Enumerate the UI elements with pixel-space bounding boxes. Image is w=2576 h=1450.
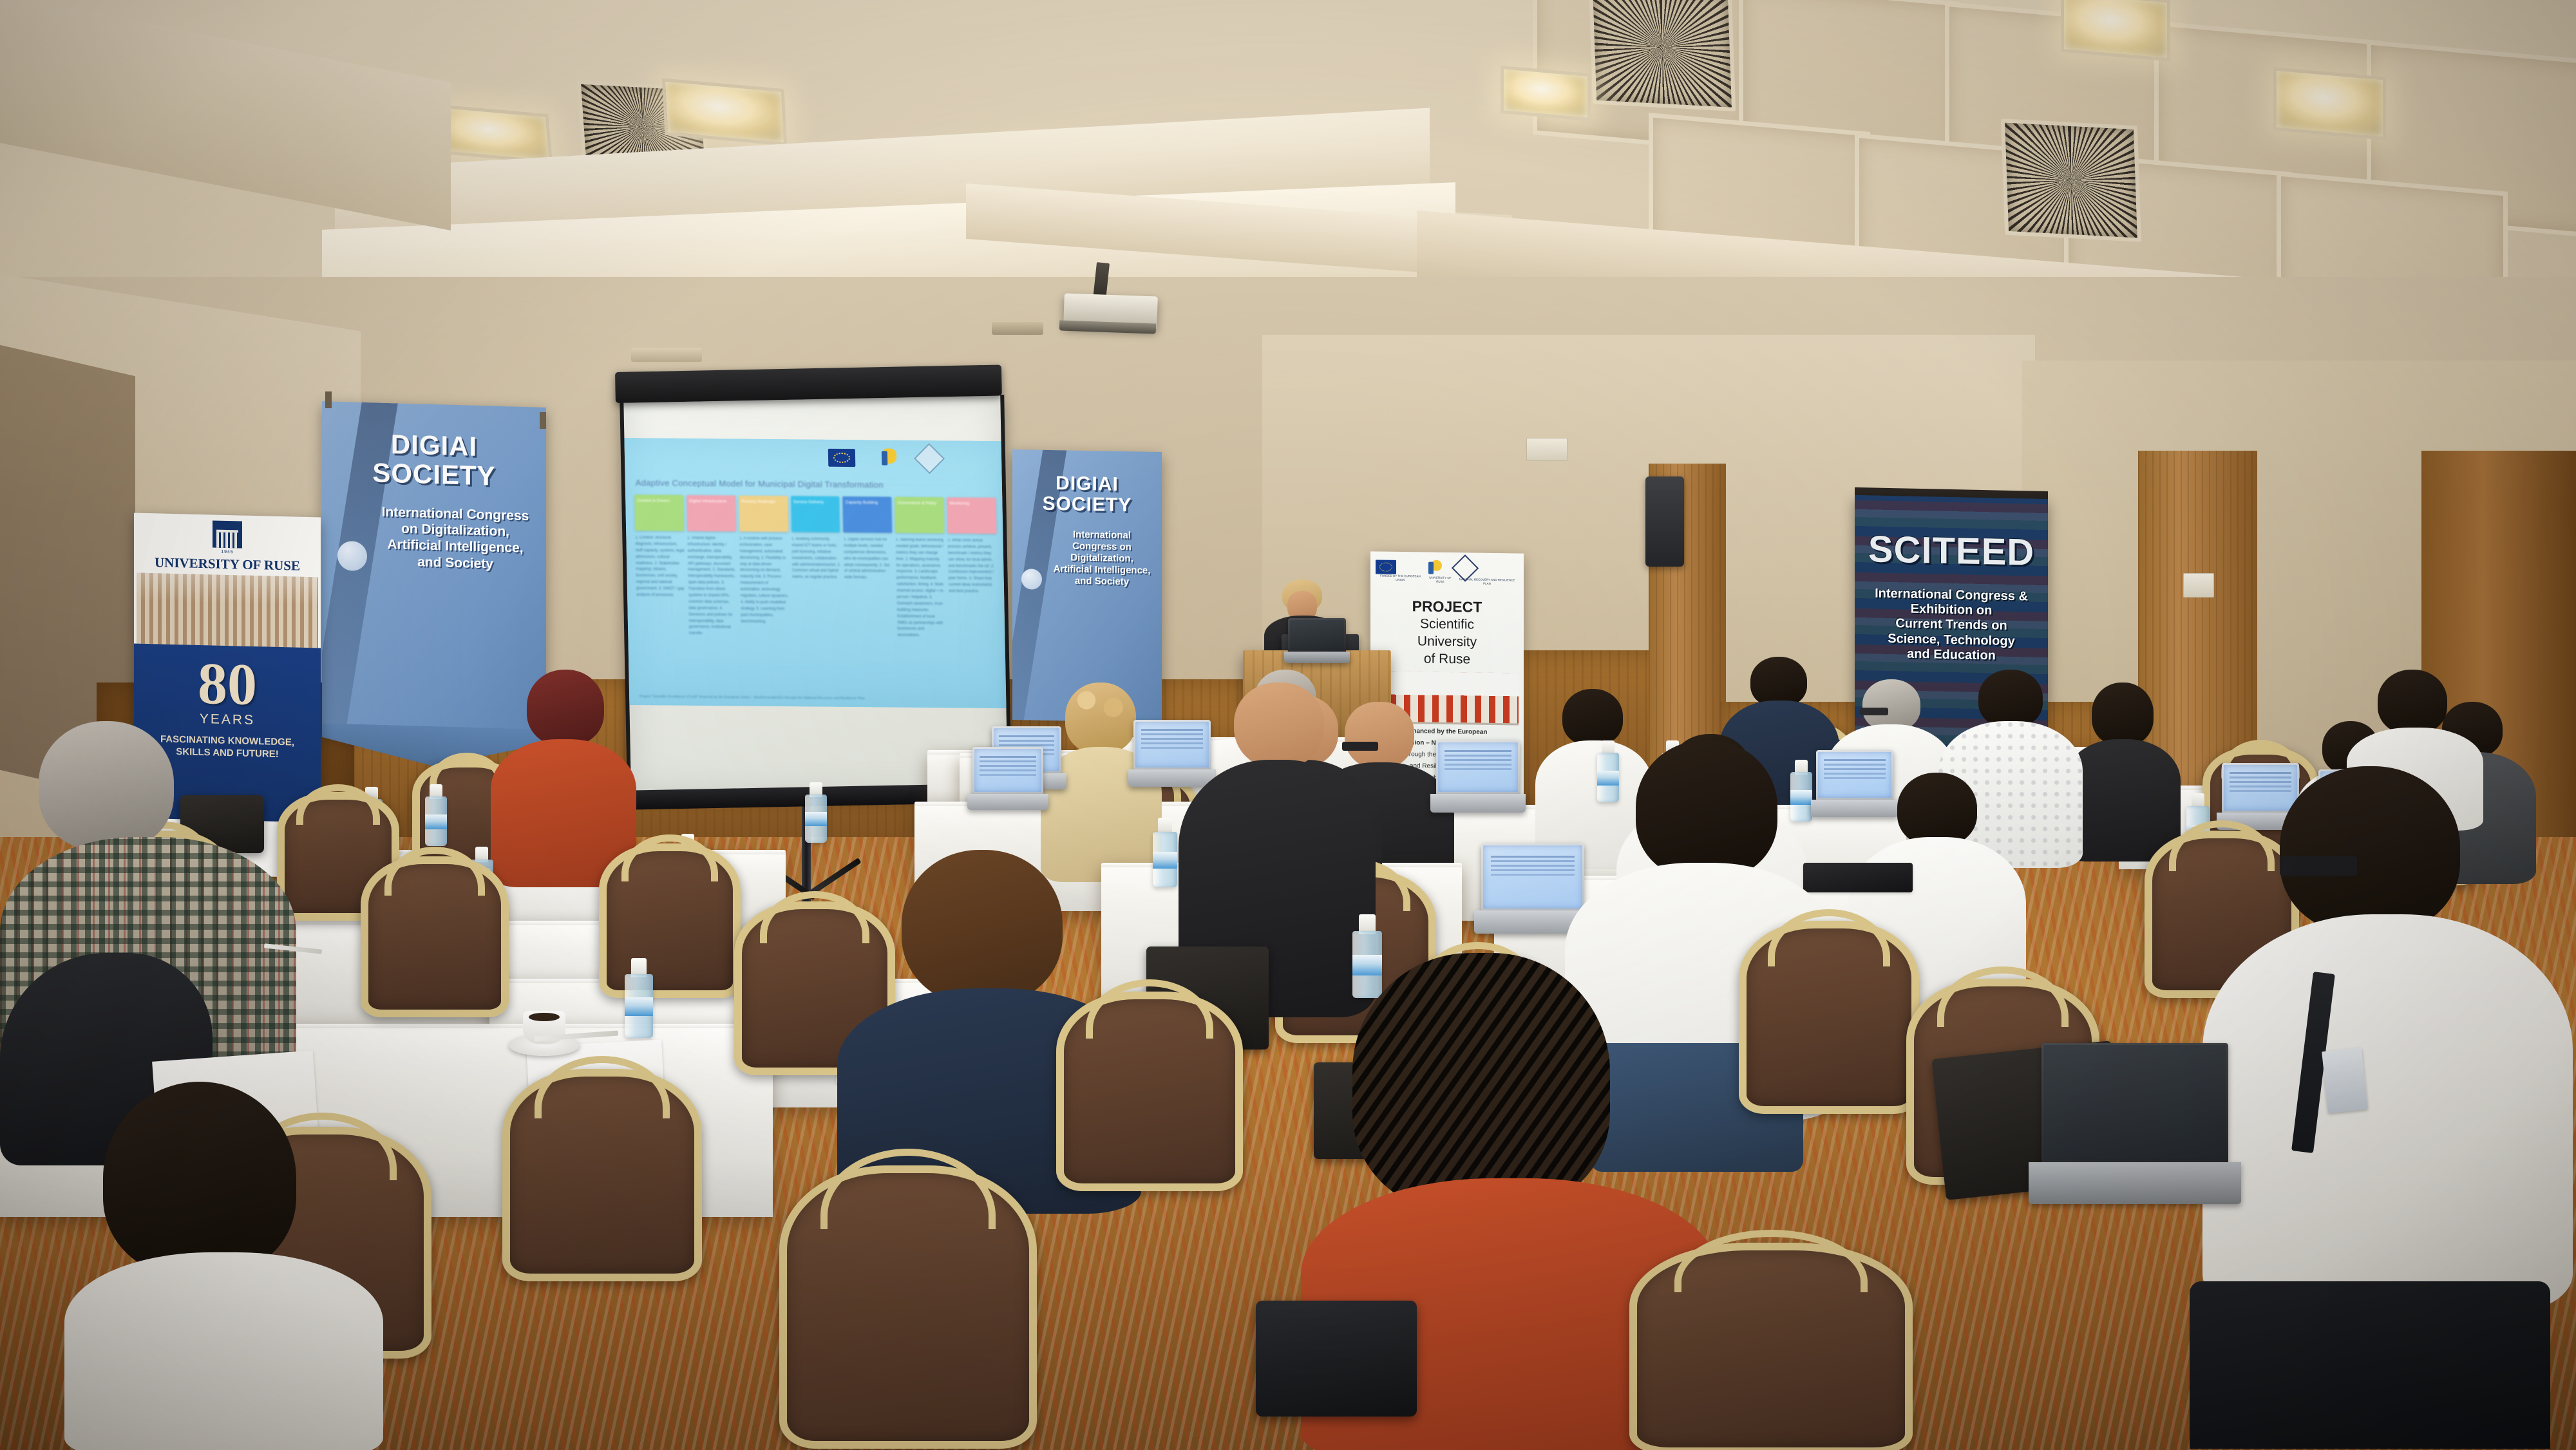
attendee-head: [1897, 773, 1977, 846]
attendee-head: [1562, 689, 1623, 746]
slide-title: Adaptive Conceptual Model for Municipal …: [636, 478, 960, 490]
banquet-chair[interactable]: [1056, 992, 1243, 1191]
slide-footer: Project "Scientific Excellence of UoR" f…: [639, 695, 996, 702]
attendee: [2190, 766, 2576, 1449]
slide-columns: Context & Drivers 1. Context: structural…: [634, 494, 998, 640]
air-diffuser-icon: [2001, 118, 2141, 242]
uor-logo-group: UNIVERSITY OF RUSE: [1425, 560, 1455, 584]
slide-column-header: Digital Infrastructure: [687, 495, 736, 532]
university-name: UNIVERSITY OF RUSE: [134, 554, 321, 574]
attendee-torso: [64, 1252, 383, 1450]
nrp-logo-group: NATIONAL RECOVERY AND RESILIENCE PLAN: [1455, 558, 1519, 586]
slide-column-header: Governance & Policy: [895, 497, 945, 534]
banner-subtitle: International Congress on Digitalization…: [1052, 529, 1151, 588]
light-switch-plate[interactable]: [2183, 573, 2214, 598]
eu-flag-logo-icon: [828, 449, 856, 467]
slide-column-header: Service Delivery: [791, 496, 840, 532]
national-recovery-plan-logo-icon: [914, 443, 945, 474]
slide-column-header: Process Redesign: [739, 496, 788, 532]
attendee-head: [1750, 657, 1807, 707]
slide-column: Governance & Policy 1. Steering teams ac…: [895, 497, 947, 640]
slide-column-body: 1. Building community, shared ICT teams …: [791, 536, 841, 581]
presentation-slide: Adaptive Conceptual Model for Municipal …: [624, 438, 1006, 708]
banquet-chair[interactable]: [361, 856, 509, 1017]
sciteed-title: SCITEED: [1855, 527, 2048, 574]
slide-column: Process Redesign 1. A runtime with proce…: [739, 496, 790, 639]
ceiling-downlight-icon: [436, 104, 553, 164]
slide-column-body: 1. Steering teams achieving needed goals…: [896, 538, 947, 640]
eu-logo-caption: FUNDED BY THE EUROPEAN UNION: [1376, 574, 1425, 582]
poster-title-line2: Scientific: [1370, 615, 1524, 634]
banner-subtitle: International Congress on Digitalization…: [381, 504, 529, 573]
water-bottle[interactable]: [625, 958, 653, 1038]
water-bottle[interactable]: [1153, 818, 1177, 887]
attendee-head: [2092, 683, 2154, 746]
anniversary-number: 80: [137, 655, 318, 713]
attendee-head: [1636, 740, 1777, 879]
wall-vent: [631, 348, 702, 362]
slide-column-body: 1. What costs actual process achieve, pr…: [948, 538, 998, 596]
banner-digiai-right: DIGIAI SOCIETY International Congress on…: [1012, 449, 1162, 722]
slide-column-header: Capacity Building: [843, 496, 893, 533]
slide-logo-row: [828, 447, 941, 470]
attendee-head: [1978, 670, 2043, 728]
slide-column-header: Monitoring: [947, 497, 996, 534]
projection-screen: Adaptive Conceptual Model for Municipal …: [620, 391, 1012, 797]
attendee: [64, 1082, 386, 1450]
slide-column-header: Context & Drivers: [634, 494, 684, 531]
wall-speaker: [1645, 476, 1684, 567]
attendee-head-bald: [1234, 683, 1324, 769]
banner-hook: [540, 412, 546, 429]
university-building-photo: [137, 573, 318, 648]
attendee-head: [1862, 679, 1920, 731]
laptop[interactable]: [1288, 618, 1346, 663]
banquet-chair[interactable]: [599, 843, 741, 998]
banner-title-line1: DIGIAI: [1012, 473, 1162, 496]
banquet-chair[interactable]: [502, 1069, 702, 1281]
attendee-head: [2280, 766, 2460, 934]
attendee-head: [2378, 670, 2447, 734]
air-diffuser-icon: [1589, 0, 1736, 111]
slide-column: Context & Drivers 1. Context: structural…: [634, 494, 686, 637]
university-of-ruse-logo-icon: [1425, 560, 1442, 576]
attendee-head: [103, 1082, 296, 1275]
attendee-trousers: [2190, 1281, 2550, 1449]
eu-flag-logo-icon: [1376, 560, 1396, 574]
slide-column-body: 1. Context: structural diagnosis, infras…: [635, 535, 685, 599]
ceiling-downlight-icon: [2273, 67, 2386, 140]
slide-column: Monitoring 1. What costs actual process …: [947, 497, 998, 640]
slide-column: Service Delivery 1. Building community, …: [791, 496, 842, 639]
banquet-chair[interactable]: [1739, 921, 1919, 1114]
banner-accent-dot-icon: [1021, 569, 1042, 590]
wall-vent: [992, 322, 1043, 335]
laptop[interactable]: [972, 747, 1043, 810]
attendee-head: [39, 721, 174, 850]
sunglasses-icon: [2280, 856, 2357, 876]
banquet-chair[interactable]: [1629, 1243, 1913, 1450]
eyeglasses-icon: [1860, 708, 1888, 715]
slide-column-body: 1. Shared digital infrastructure: identi…: [687, 536, 738, 638]
slide-column: Capacity Building 1. Digital services hu…: [843, 496, 895, 639]
laptop[interactable]: [2041, 1043, 2228, 1204]
wall-plate: [1526, 438, 1567, 461]
poster-title-line3: University: [1370, 632, 1524, 652]
university-of-ruse-logo-icon: [877, 448, 897, 467]
poster-title-line1: PROJECT: [1370, 596, 1524, 617]
ceiling-downlight-icon: [2061, 0, 2170, 61]
conference-room-photo: Adaptive Conceptual Model for Municipal …: [0, 0, 2576, 1450]
ceiling-downlight-icon: [662, 78, 787, 146]
attendee-head: [527, 670, 604, 746]
banner-hook: [325, 391, 332, 408]
ceiling-downlight-icon: [1501, 66, 1591, 121]
coffee-cup[interactable]: [509, 1004, 580, 1056]
eu-logo-group: FUNDED BY THE EUROPEAN UNION: [1376, 560, 1425, 582]
banquet-chair[interactable]: [779, 1165, 1037, 1449]
attendee-head: [1065, 683, 1136, 753]
attendee-head: [1352, 953, 1610, 1210]
water-bottle[interactable]: [805, 782, 827, 843]
uor-logo-caption: UNIVERSITY OF RUSE: [1425, 576, 1455, 584]
laptop[interactable]: [1436, 740, 1520, 813]
tablet-device[interactable]: [1256, 1301, 1417, 1417]
water-bottle[interactable]: [425, 784, 447, 846]
attendee-head: [902, 850, 1063, 1004]
poster-logo-row: FUNDED BY THE EUROPEAN UNION UNIVERSITY …: [1370, 551, 1524, 588]
slide-column-body: 1. A runtime with process orchestration,…: [739, 536, 790, 626]
university-crest-icon: [213, 520, 242, 548]
conference-badge: [2322, 1048, 2368, 1113]
poster-title-line4: of Ruse: [1370, 650, 1524, 669]
banner-title-line2: SOCIETY: [1012, 493, 1162, 516]
slide-column-body: 1. Digital services hub for multiple lev…: [844, 537, 893, 582]
attendee-torso: [2202, 914, 2573, 1313]
slide-column: Digital Infrastructure 1. Shared digital…: [687, 495, 738, 638]
